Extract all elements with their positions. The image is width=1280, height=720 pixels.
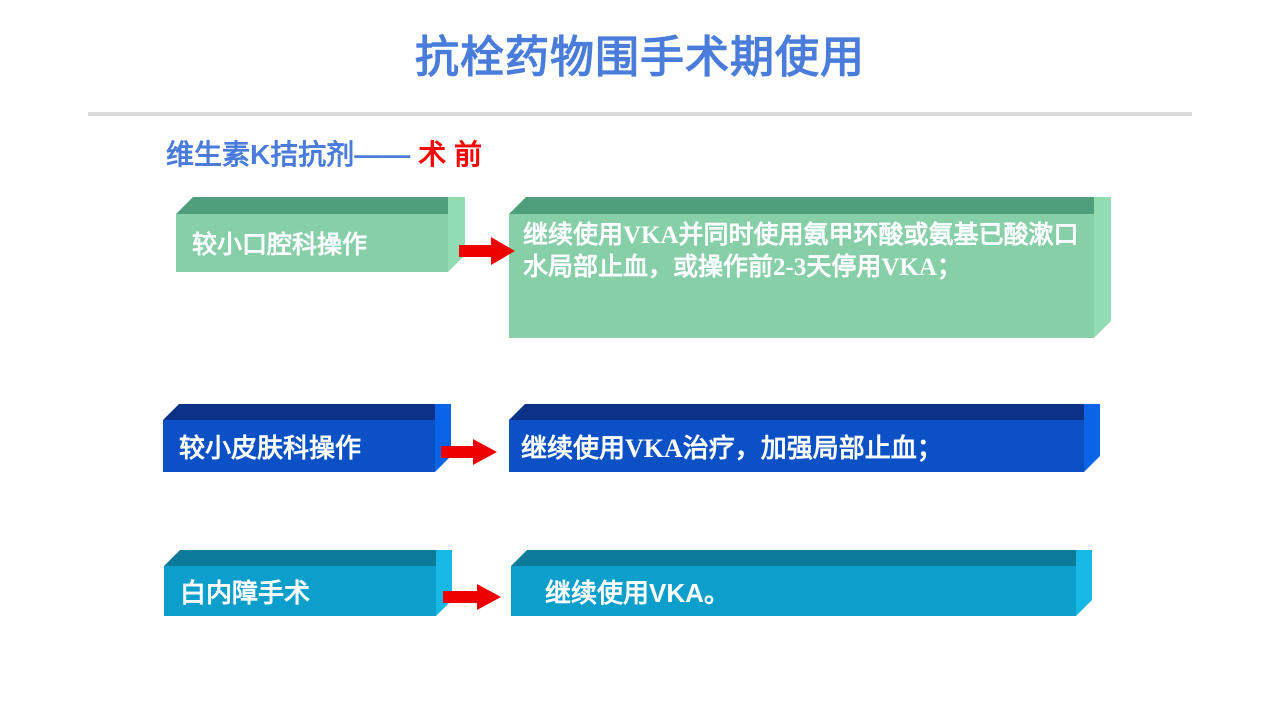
page-title: 抗栓药物围手术期使用 <box>0 34 1280 82</box>
box-3d-front-face: 继续使用VKA治疗，加强局部止血； <box>509 420 1084 472</box>
right-arrow-icon <box>459 236 515 266</box>
title-divider <box>88 112 1192 116</box>
content-text-derm: 继续使用VKA治疗，加强局部止血； <box>521 428 943 465</box>
label-text-cataract: 白内障手术 <box>180 573 310 610</box>
label-text-oral: 较小口腔科操作 <box>192 225 367 261</box>
box-3d-front-face: 继续使用VKA并同时使用氨甲环酸或氨基已酸漱口水局部止血，或操作前2-3天停用V… <box>509 214 1094 338</box>
box-3d-front-face: 白内障手术 <box>164 566 436 616</box>
box-3d-front-face: 继续使用VKA。 <box>511 566 1076 616</box>
right-arrow-icon <box>443 583 501 611</box>
slide-canvas: 抗栓药物围手术期使用 维生素K拮抗剂——术 前 较小口腔科操作 <box>0 0 1280 720</box>
content-box-cataract[interactable]: 继续使用VKA。 <box>511 566 1076 616</box>
box-3d-front-face: 较小口腔科操作 <box>176 214 448 272</box>
section-subtitle: 维生素K拮抗剂——术 前 <box>166 138 482 172</box>
label-box-cataract[interactable]: 白内障手术 <box>164 566 436 616</box>
label-text-derm: 较小皮肤科操作 <box>179 428 361 465</box>
subtitle-main-text: 维生素K拮抗剂—— <box>166 139 410 170</box>
label-box-oral[interactable]: 较小口腔科操作 <box>176 214 448 272</box>
box-3d-front-face: 较小皮肤科操作 <box>163 420 435 472</box>
content-text-oral: 继续使用VKA并同时使用氨甲环酸或氨基已酸漱口水局部止血，或操作前2-3天停用V… <box>523 220 1080 284</box>
subtitle-accent-text: 术 前 <box>418 139 482 170</box>
label-box-derm[interactable]: 较小皮肤科操作 <box>163 420 435 472</box>
content-box-derm[interactable]: 继续使用VKA治疗，加强局部止血； <box>509 420 1084 472</box>
content-box-oral[interactable]: 继续使用VKA并同时使用氨甲环酸或氨基已酸漱口水局部止血，或操作前2-3天停用V… <box>509 214 1094 338</box>
right-arrow-icon <box>441 438 497 466</box>
content-text-cataract: 继续使用VKA。 <box>545 573 730 610</box>
